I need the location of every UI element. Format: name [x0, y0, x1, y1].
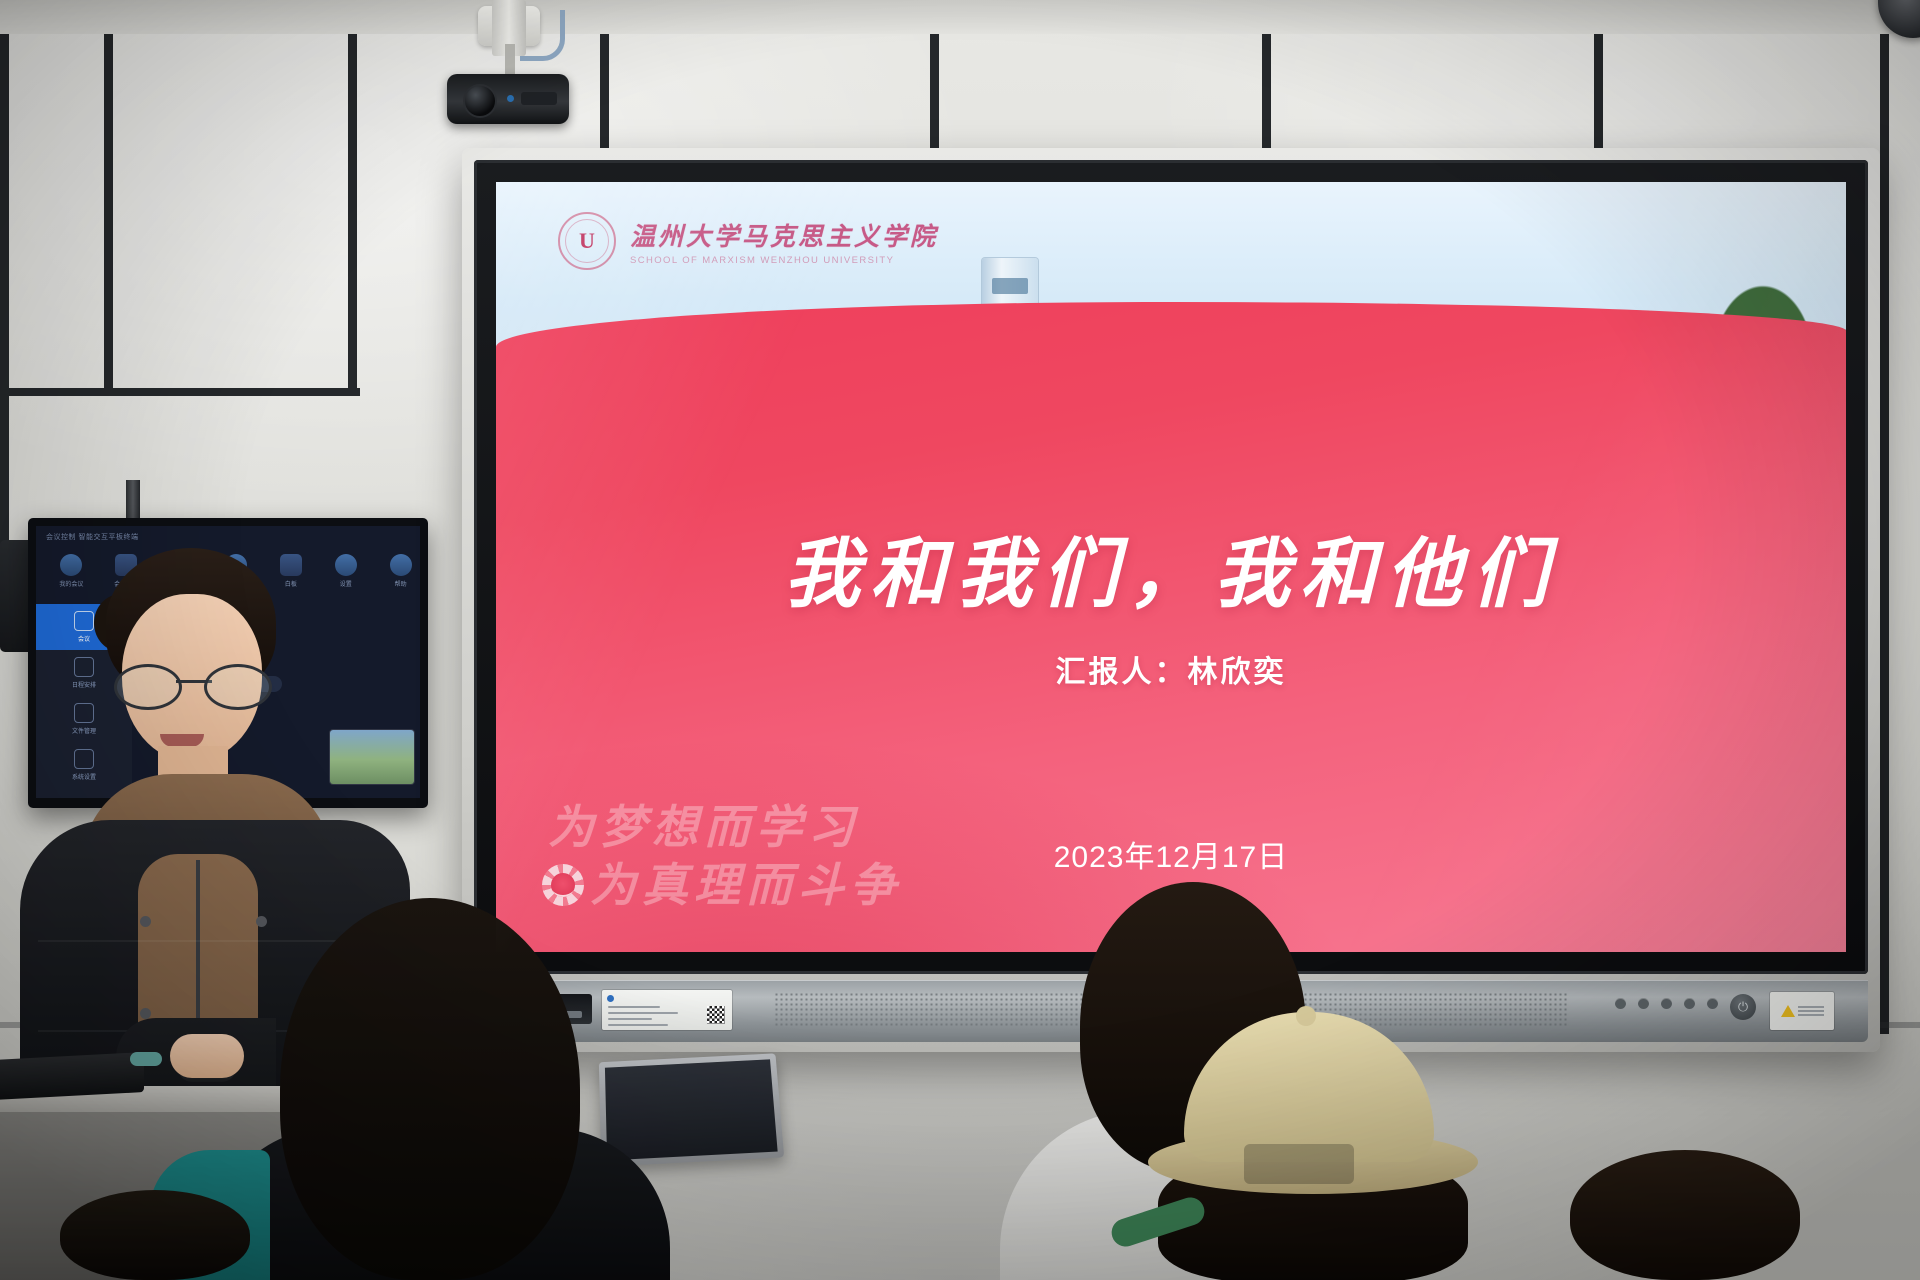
qr-code-icon: [707, 1006, 725, 1024]
university-logo: U 温州大学马克思主义学院 SCHOOL OF MARXISM WENZHOU …: [558, 212, 938, 270]
slide-presenter: 汇报人：林欣奕: [496, 647, 1846, 691]
keyboard[interactable]: [0, 1052, 144, 1100]
camera-led-icon: [507, 95, 514, 102]
slide-title: 我和我们，我和他们: [496, 512, 1846, 622]
logo-chinese-name: 温州大学马克思主义学院: [630, 217, 938, 253]
wall-mullion: [930, 34, 939, 152]
ceiling-camera: [447, 74, 569, 124]
camera-cable: [520, 10, 565, 61]
sticker-logo-icon: [607, 995, 614, 1002]
cap-strap: [1244, 1144, 1354, 1184]
panel-screen[interactable]: U 温州大学马克思主义学院 SCHOOL OF MARXISM WENZHOU …: [496, 182, 1846, 952]
power-button[interactable]: ⏻: [1730, 994, 1756, 1020]
panel-key[interactable]: [1661, 998, 1672, 1009]
presenter-bracelet: [130, 1052, 162, 1066]
camera-arm: [505, 44, 515, 78]
logo-letter: U: [579, 228, 595, 254]
wall-mullion: [104, 34, 113, 394]
logo-english-name: SCHOOL OF MARXISM WENZHOU UNIVERSITY: [630, 255, 938, 266]
audience-member-3: [1148, 1012, 1478, 1280]
panel-key[interactable]: [1638, 998, 1649, 1009]
cap-button-icon: [1296, 1006, 1316, 1026]
audience-member-1-head: [280, 898, 580, 1280]
slide-date: 2023年12月17日: [496, 832, 1846, 876]
panel-key[interactable]: [1707, 998, 1718, 1009]
wall-mullion: [1594, 34, 1603, 152]
ceiling-strip: [0, 0, 1920, 34]
spec-sticker: [602, 990, 732, 1030]
logo-text-block: 温州大学马克思主义学院 SCHOOL OF MARXISM WENZHOU UN…: [630, 217, 938, 266]
warning-sticker: [1770, 992, 1834, 1030]
camera-lens-icon: [463, 84, 497, 118]
glasses-icon: [114, 664, 272, 704]
wall-mullion: [1262, 34, 1271, 152]
tower-window: [992, 278, 1028, 294]
cap-crown: [1184, 1012, 1434, 1162]
logo-emblem-icon: U: [558, 212, 616, 270]
panel-key[interactable]: [1615, 998, 1626, 1009]
classroom-photo-scene: 会议控制 智能交互平板终端 我的会议 会议预约 通讯录 投屏: [0, 0, 1920, 1280]
laptop-screen[interactable]: [605, 1059, 778, 1160]
control-monitor-topbar: 会议控制 智能交互平板终端: [36, 526, 420, 548]
wall-mullion: [1880, 34, 1889, 1034]
warning-triangle-icon: [1781, 1005, 1795, 1017]
presenter-hand: [170, 1034, 244, 1078]
panel-key-row[interactable]: [1615, 998, 1718, 1009]
panel-key[interactable]: [1684, 998, 1695, 1009]
wall-mullion: [600, 34, 609, 154]
audience-member-5-head: [60, 1190, 250, 1280]
wall-mullion: [348, 34, 357, 394]
wall-mullion: [0, 34, 9, 594]
panel-bezel: U 温州大学马克思主义学院 SCHOOL OF MARXISM WENZHOU …: [474, 160, 1868, 974]
control-monitor-header: 会议控制 智能交互平板终端: [46, 532, 138, 542]
audience-member-4-head: [1570, 1150, 1800, 1280]
laptop[interactable]: [599, 1053, 784, 1167]
camera-sensor-strip: [521, 92, 557, 105]
wall-mullion: [0, 388, 360, 396]
